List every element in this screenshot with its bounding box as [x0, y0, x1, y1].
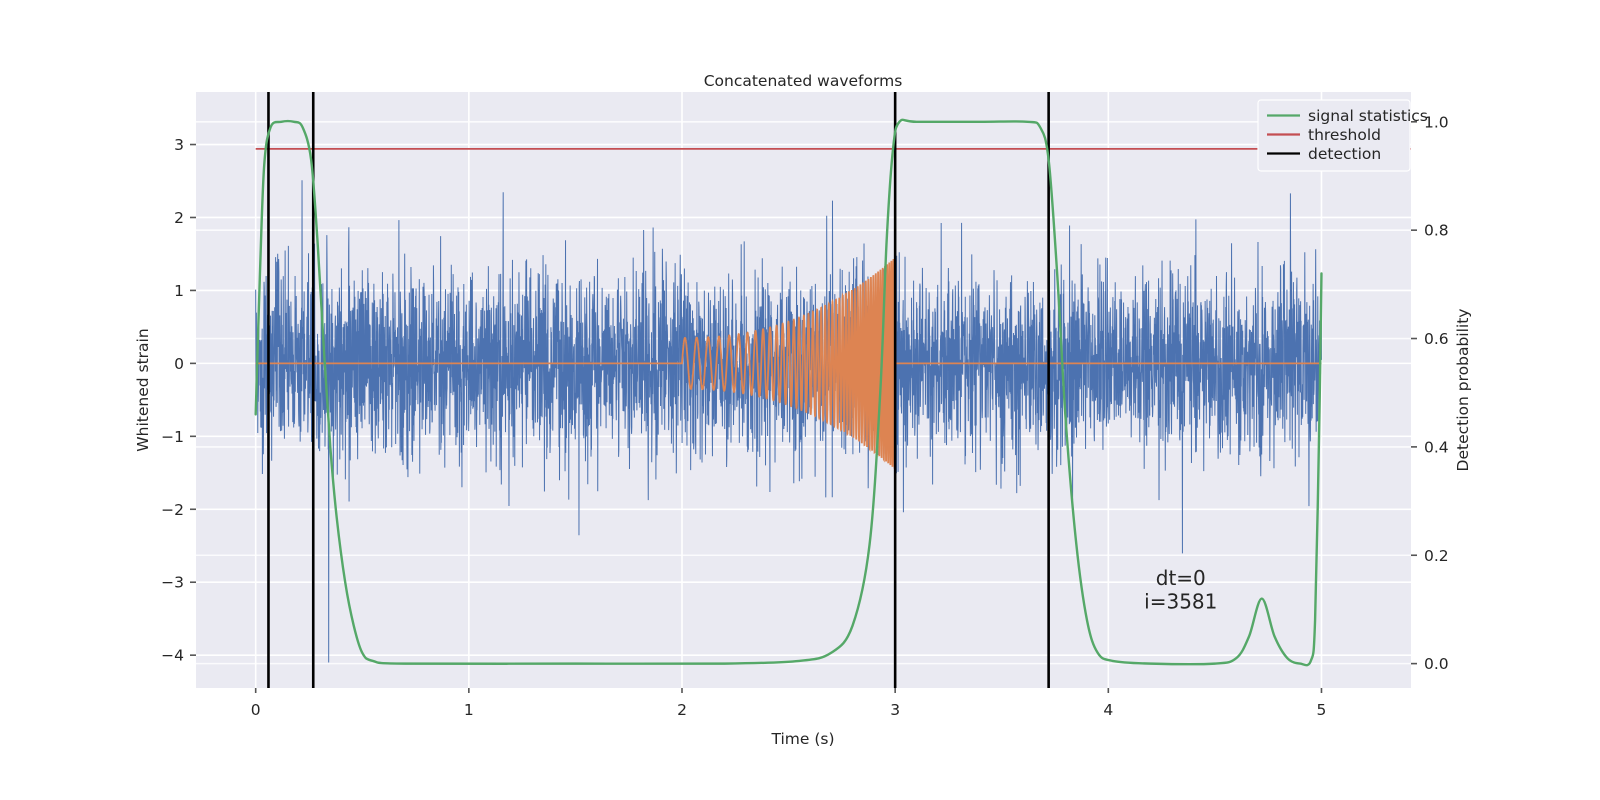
x-tick-label: 0	[251, 701, 261, 719]
y-tick-label: −4	[161, 647, 184, 665]
y2-axis-label: Detection probability	[1454, 309, 1472, 472]
y2-tick-label: 0.0	[1424, 655, 1449, 673]
x-tick-label: 2	[677, 701, 687, 719]
y-axis-label: Whitened strain	[134, 328, 152, 451]
y2-tick-label: 0.6	[1424, 330, 1449, 348]
y-tick-label: −3	[161, 574, 184, 592]
matplotlib-figure: 012345 3210−1−2−3−4 1.00.80.60.40.20.0 C…	[0, 0, 1600, 800]
legend-item-label[interactable]: threshold	[1308, 126, 1381, 144]
legend-item-label[interactable]: signal statistics	[1308, 107, 1428, 125]
x-tick-label: 4	[1103, 701, 1113, 719]
annotation-text: dt=0	[1156, 566, 1206, 590]
y-tick-label: 1	[174, 282, 184, 300]
y-tick-label: 3	[174, 136, 184, 154]
y2-tick-label: 0.4	[1424, 438, 1449, 456]
annotation-text: i=3581	[1144, 589, 1217, 613]
x-tick-label: 1	[464, 701, 474, 719]
y-tick-label: −2	[161, 501, 184, 519]
x-tick-label: 5	[1317, 701, 1327, 719]
chart-canvas[interactable]: 012345 3210−1−2−3−4 1.00.80.60.40.20.0 C…	[0, 0, 1600, 800]
y2-axis-ticks: 1.00.80.60.40.20.0	[1411, 113, 1449, 673]
x-tick-label: 3	[890, 701, 900, 719]
chart-legend[interactable]: signal statisticsthresholddetection	[1258, 100, 1428, 171]
x-axis-ticks: 012345	[251, 688, 1327, 719]
chart-title: Concatenated waveforms	[704, 72, 903, 90]
y-tick-label: 0	[174, 355, 184, 373]
y2-tick-label: 0.8	[1424, 222, 1449, 240]
y-tick-label: 2	[174, 209, 184, 227]
y2-tick-label: 0.2	[1424, 547, 1449, 565]
x-axis-label: Time (s)	[770, 730, 834, 748]
y-axis-ticks: 3210−1−2−3−4	[161, 136, 196, 665]
y-tick-label: −1	[161, 428, 184, 446]
legend-item-label[interactable]: detection	[1308, 145, 1381, 163]
